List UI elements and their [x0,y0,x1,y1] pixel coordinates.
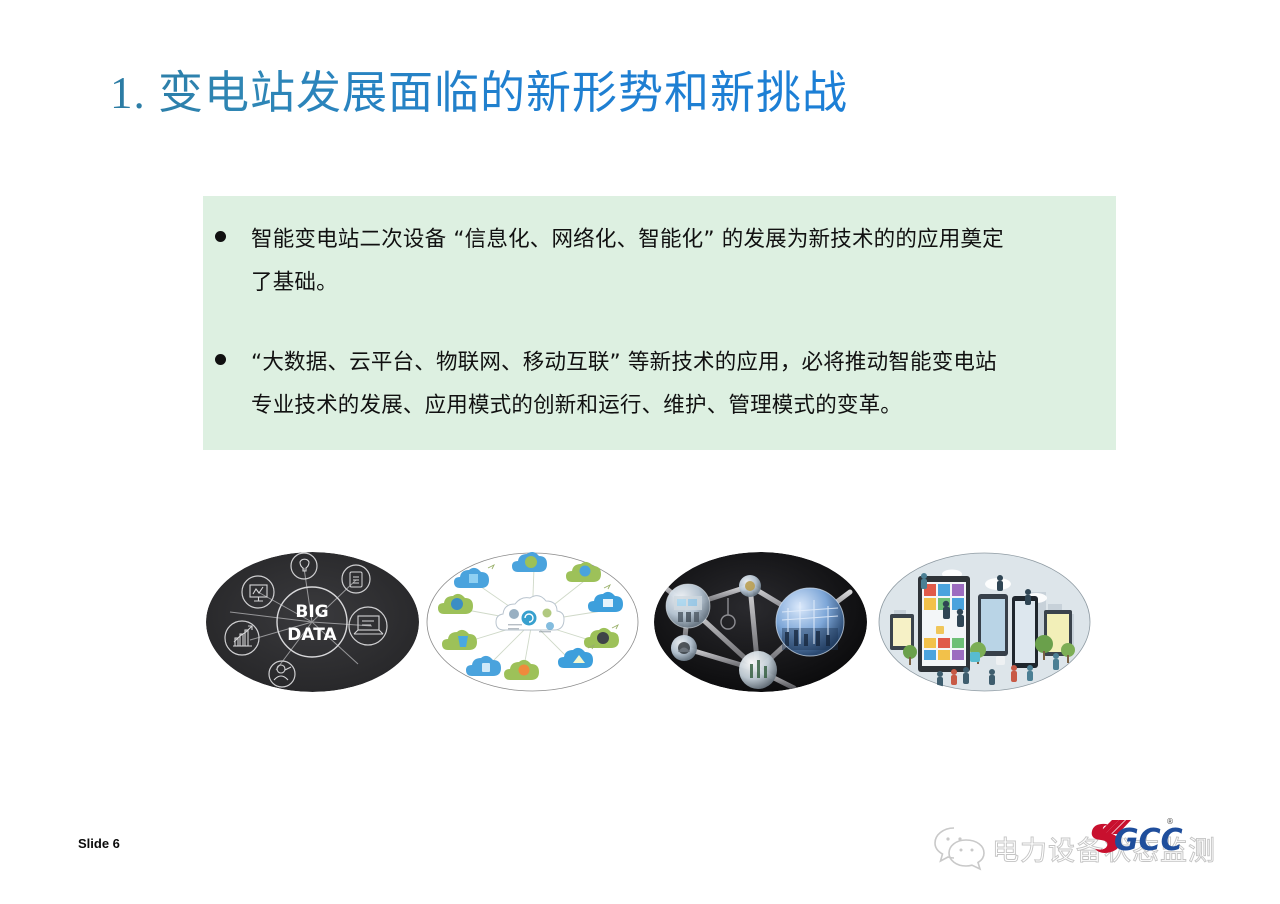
cloud-computing-ellipse-image [426,552,639,692]
bullet-1-line-2: 了基础。 [251,261,1004,304]
bullet-dot-icon [215,354,226,365]
big-data-label-line1: BIG [295,602,328,622]
slide-number-label: Slide 6 [78,836,120,851]
bullet-item-1: 智能变电站二次设备 “信息化、网络化、智能化” 的发展为新技术的的应用奠定 了基… [215,218,1102,304]
mobile-internet-ellipse-image [878,552,1091,692]
big-data-label-line2: DATA [287,625,337,645]
svg-text:GCC: GCC [1114,823,1183,858]
bullet-text-1: 智能变电站二次设备 “信息化、网络化、智能化” 的发展为新技术的的应用奠定 了基… [251,218,1004,304]
content-box: 智能变电站二次设备 “信息化、网络化、智能化” 的发展为新技术的的应用奠定 了基… [203,196,1116,450]
bullet-1-line-1: 智能变电站二次设备 “信息化、网络化、智能化” 的发展为新技术的的应用奠定 [251,218,1004,261]
bullet-dot-icon [215,231,226,242]
registered-mark: ® [1166,817,1174,826]
sgcc-logo-icon: GCC ® [1092,817,1183,858]
bullet-2-line-2: 专业技术的发展、应用模式的创新和运行、维护、管理模式的变革。 [251,384,997,427]
watermark: 电力设备状态监测 GCC ® [930,812,1220,882]
slide-canvas: 1. 变电站发展面临的新形势和新挑战 智能变电站二次设备 “信息化、网络化、智能… [0,0,1280,904]
wechat-icon [935,828,984,869]
page-title: 1. 变电站发展面临的新形势和新挑战 [110,56,848,121]
bullet-item-2: “大数据、云平台、物联网、移动互联” 等新技术的应用，必将推动智能变电站 专业技… [215,341,1102,427]
big-data-ellipse-image: BIG DATA [206,552,419,692]
iot-network-ellipse-image [654,552,867,692]
bullet-text-2: “大数据、云平台、物联网、移动互联” 等新技术的应用，必将推动智能变电站 专业技… [251,341,997,427]
bullet-2-line-1: “大数据、云平台、物联网、移动互联” 等新技术的应用，必将推动智能变电站 [251,341,997,384]
